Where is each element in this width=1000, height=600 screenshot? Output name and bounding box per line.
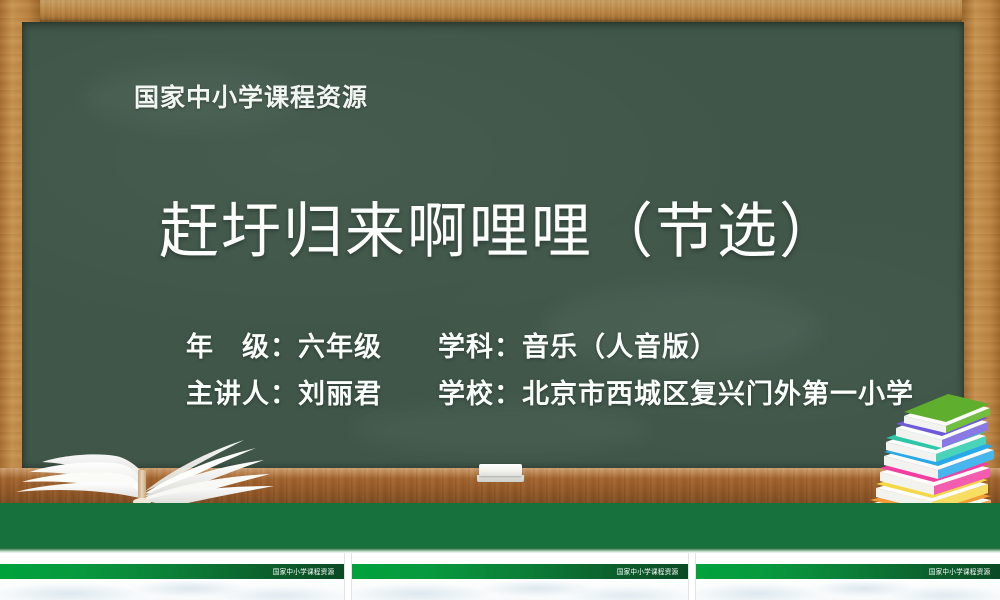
- slide-canvas: 国家中小学课程资源 赶圩归来啊哩哩（节选） 年 级：六年级 学科：音乐（人音版）…: [0, 0, 1000, 553]
- thumbnail-top-area: [0, 553, 344, 564]
- presentation-viewer: 国家中小学课程资源 赶圩归来啊哩哩（节选） 年 级：六年级 学科：音乐（人音版）…: [0, 0, 1000, 600]
- thumbnail-watermark-label: 国家中小学课程资源: [617, 567, 688, 577]
- thumbnail-green-bar: 国家中小学课程资源: [696, 564, 1000, 579]
- thumbnail-watermark-label: 国家中小学课程资源: [929, 567, 1000, 577]
- thumbnail-map-watermark: [0, 579, 344, 600]
- thumbnail-divider: [688, 553, 696, 600]
- thumbnail-divider: [344, 553, 352, 600]
- thumbnail-top-area: [696, 553, 1000, 564]
- slide-thumbnail[interactable]: 国家中小学课程资源: [0, 553, 344, 600]
- open-book-illustration: [8, 404, 278, 504]
- slide-thumbnail-strip[interactable]: 国家中小学课程资源 国家中小学课程资源 国家中小学课程资源: [0, 553, 1000, 600]
- frame-top-rail: [0, 0, 1000, 22]
- slide-title: 赶圩归来啊哩哩（节选）: [0, 183, 1000, 270]
- eraser-felt: [477, 475, 524, 482]
- thumbnail-green-bar: 国家中小学课程资源: [352, 564, 688, 579]
- thumbnail-map-watermark: [352, 579, 688, 600]
- slide-meta-grade-subject: 年 级：六年级 学科：音乐（人音版）: [186, 325, 718, 364]
- course-resource-header: 国家中小学课程资源: [134, 78, 368, 114]
- open-book-icon: [8, 404, 278, 504]
- thumbnail-green-bar: 国家中小学课程资源: [0, 564, 344, 579]
- chalkboard-eraser: [477, 464, 524, 482]
- slide-footer-panel: [0, 503, 1000, 553]
- eraser-body: [479, 464, 522, 476]
- thumbnail-top-area: [352, 553, 688, 564]
- thumbnail-watermark-label: 国家中小学课程资源: [273, 567, 344, 577]
- slide-meta-teacher-school: 主讲人：刘丽君 学校：北京市西城区复兴门外第一小学: [186, 372, 914, 411]
- slide-thumbnail[interactable]: 国家中小学课程资源: [352, 553, 688, 600]
- slide-thumbnail[interactable]: 国家中小学课程资源: [696, 553, 1000, 600]
- thumbnail-map-watermark: [696, 579, 1000, 600]
